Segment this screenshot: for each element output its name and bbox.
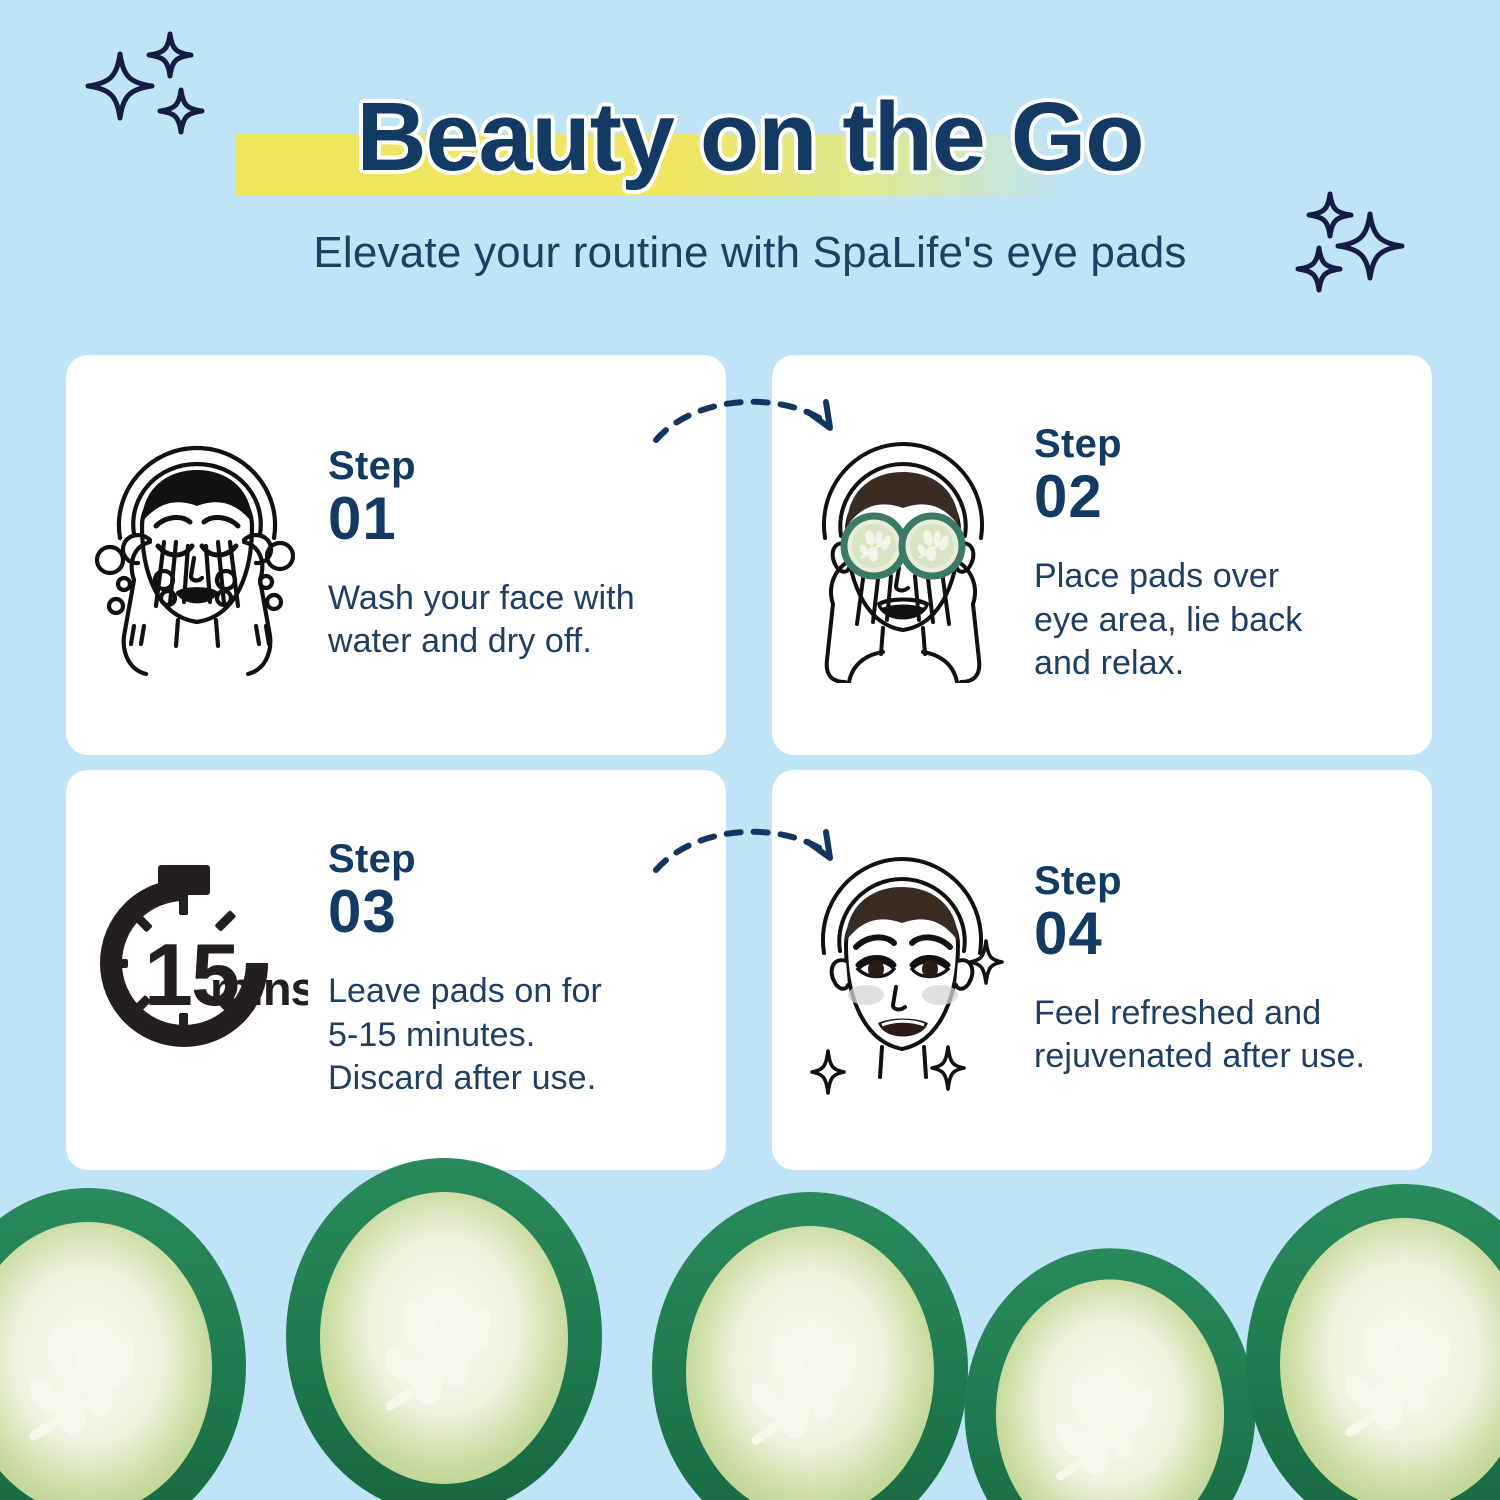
- washing-face-icon: [66, 355, 328, 755]
- step-number: 01: [328, 488, 635, 549]
- step-label: Step: [1034, 424, 1302, 466]
- step-label: Step: [328, 839, 602, 881]
- timer-15-mins-icon: 15 mins: [66, 770, 328, 1170]
- cucumber-eye-pad: [652, 1192, 968, 1500]
- step-description: Leave pads on for 5-15 minutes. Discard …: [328, 970, 602, 1101]
- step-description: Place pads over eye area, lie back and r…: [1034, 555, 1302, 686]
- title-wrap: Beauty on the Go: [0, 62, 1500, 212]
- cucumber-eye-pad: [0, 1188, 246, 1500]
- infographic-canvas: Beauty on the Go Elevate your routine wi…: [0, 0, 1500, 1500]
- cucumber-eye-pad: [965, 1248, 1256, 1500]
- step-label: Step: [1034, 861, 1365, 903]
- page-subtitle: Elevate your routine with SpaLife's eye …: [0, 228, 1500, 278]
- step-card-body: Step 03 Leave pads on for 5-15 minutes. …: [328, 839, 622, 1100]
- refreshed-face-icon: [772, 770, 1034, 1170]
- step-card-04: Step 04 Feel refreshed and rejuvenated a…: [772, 770, 1432, 1170]
- page-title: Beauty on the Go: [0, 62, 1500, 212]
- timer-unit-label: mins: [210, 962, 308, 1015]
- cucumber-eye-pad: [286, 1158, 602, 1500]
- step-description: Feel refreshed and rejuvenated after use…: [1034, 992, 1365, 1079]
- step-card-body: Step 02 Place pads over eye area, lie ba…: [1034, 424, 1322, 685]
- step-card-02: Step 02 Place pads over eye area, lie ba…: [772, 355, 1432, 755]
- step-card-body: Step 04 Feel refreshed and rejuvenated a…: [1034, 861, 1385, 1079]
- step-label: Step: [328, 446, 635, 488]
- step-description: Wash your face with water and dry off.: [328, 577, 635, 664]
- face-with-eye-pads-icon: [772, 355, 1034, 755]
- step-card-03: 15 mins Step 03 Leave pads on for 5-15 m…: [66, 770, 726, 1170]
- step-card-01: Step 01 Wash your face with water and dr…: [66, 355, 726, 755]
- step-number: 02: [1034, 466, 1302, 527]
- cucumber-pad-row: [0, 1140, 1500, 1500]
- step-card-body: Step 01 Wash your face with water and dr…: [328, 446, 655, 664]
- cucumber-eye-pad: [1246, 1184, 1500, 1500]
- step-number: 03: [328, 881, 602, 942]
- step-number: 04: [1034, 903, 1365, 964]
- header: Beauty on the Go Elevate your routine wi…: [0, 0, 1500, 212]
